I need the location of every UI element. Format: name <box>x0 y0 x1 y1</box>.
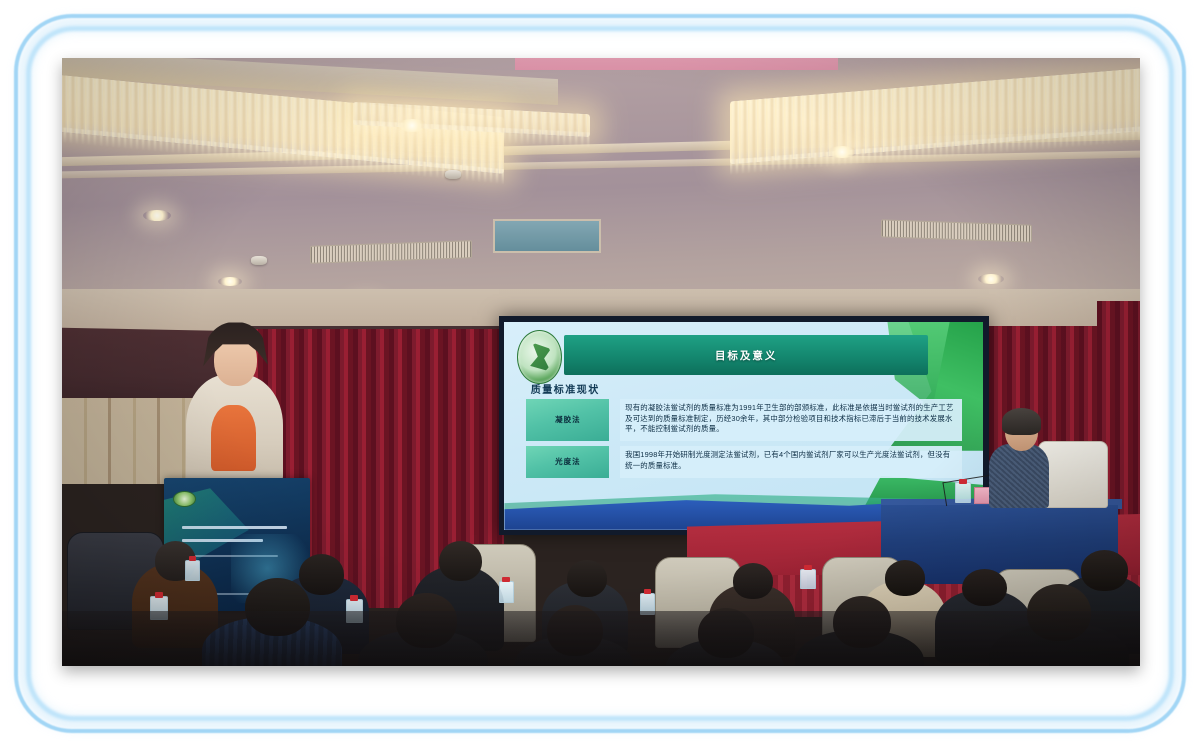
slide-row-text: 现有的凝胶法鲎试剂的质量标准为1991年卫生部的部颁标准，此标准是依据当时鲎试剂… <box>620 399 962 441</box>
podium-banner-text-line <box>182 555 278 557</box>
seated-attendee-head <box>1081 550 1128 590</box>
water-bottle <box>499 581 514 603</box>
seated-attendee-head <box>885 560 926 596</box>
recessed-downlight <box>143 210 171 221</box>
recessed-downlight <box>978 274 1004 284</box>
slide-row-text: 我国1998年开始研制光度测定法鲎试剂，已有4个国内鲎试剂厂家可以生产光度法鲎试… <box>620 446 962 478</box>
podium-banner-text-line <box>182 539 263 542</box>
seated-attendee-head <box>439 541 482 581</box>
smoke-detector <box>251 256 267 265</box>
seated-attendee-head <box>299 554 344 595</box>
slide-row: 凝胶法 现有的凝胶法鲎试剂的质量标准为1991年卫生部的部颁标准，此标准是依据当… <box>526 399 962 441</box>
foreground-shadow <box>62 611 1140 666</box>
smoke-detector <box>445 170 461 179</box>
conference-presentation-photo: 目标及意义 质量标准现状 凝胶法 现有的凝胶法鲎试剂的质量标准为1991年卫生部… <box>62 58 1140 666</box>
crystal-chandelier <box>730 66 1140 164</box>
seated-attendee-head <box>962 569 1007 607</box>
slide-row: 光度法 我国1998年开始研制光度测定法鲎试剂，已有4个国内鲎试剂厂家可以生产光… <box>526 446 962 478</box>
circular-green-institution-emblem <box>517 330 562 384</box>
podium-banner-text-line <box>182 526 287 529</box>
slide-title: 目标及意义 <box>715 348 778 363</box>
crystal-chandelier <box>353 102 590 137</box>
water-bottle <box>185 560 200 582</box>
recessed-downlight <box>218 277 242 286</box>
podium-emblem-icon <box>173 491 196 507</box>
podium-name-card <box>515 58 838 70</box>
slide-row-label: 光度法 <box>526 446 609 478</box>
ceiling-ac-panel <box>493 219 601 252</box>
female-presenter-top <box>211 405 256 472</box>
page-root: 目标及意义 质量标准现状 凝胶法 现有的凝胶法鲎试剂的质量标准为1991年卫生部… <box>0 0 1200 747</box>
recessed-downlight <box>396 119 428 132</box>
slide-title-bar: 目标及意义 <box>564 335 928 375</box>
slide-row-label: 凝胶法 <box>526 399 609 441</box>
seated-session-chair-hair <box>1002 408 1041 435</box>
slide-subtitle: 质量标准现状 <box>531 381 600 396</box>
seated-attendee-head <box>567 560 608 598</box>
water-bottle <box>955 482 971 503</box>
seated-session-chair <box>989 444 1049 508</box>
seated-attendee-head <box>733 563 774 599</box>
slide-content-rows: 凝胶法 现有的凝胶法鲎试剂的质量标准为1991年卫生部的部颁标准，此标准是依据当… <box>526 399 962 483</box>
water-bottle <box>800 569 815 590</box>
